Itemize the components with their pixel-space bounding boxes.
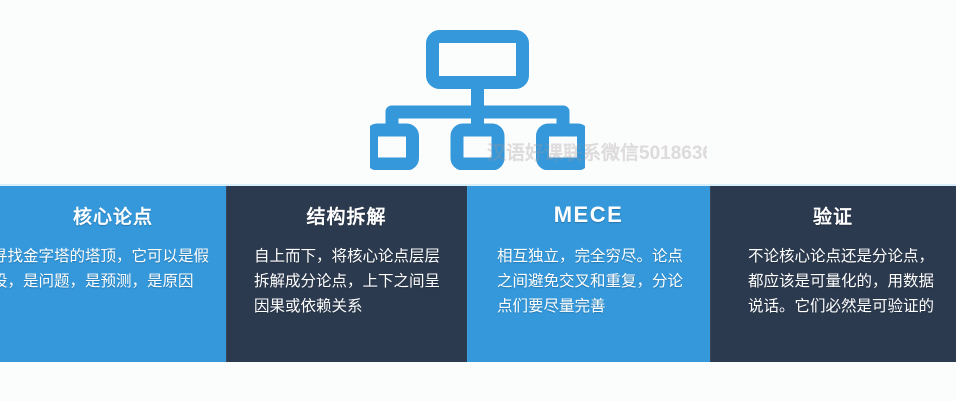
panel-title-core-argument: 核心论点 [0, 202, 226, 229]
panel-structure-decomposition[interactable]: 结构拆解 自上而下，将核心论点层层拆解成分论点，上下之间呈因果或依赖关系 [226, 186, 467, 362]
panel-body-core-argument: 寻找金字塔的塔顶，它可以是假设，是问题，是预测，是原因 [0, 244, 210, 294]
panel-body-structure-decomposition: 自上而下，将核心论点层层拆解成分论点，上下之间呈因果或依赖关系 [254, 244, 451, 319]
panel-title-structure-decomposition: 结构拆解 [226, 202, 467, 229]
panel-title-mece: MECE [467, 202, 710, 228]
panel-verification[interactable]: 验证 不论核心论点还是分论点，都应该是可量化的，用数据说话。它们必然是可验证的 [710, 186, 956, 362]
hero-area: 汉语好课联系微信501863613 [0, 0, 956, 186]
panel-core-argument[interactable]: 核心论点 寻找金字塔的塔顶，它可以是假设，是问题，是预测，是原因 [0, 186, 226, 362]
concept-panel-band: 核心论点 寻找金字塔的塔顶，它可以是假设，是问题，是预测，是原因 结构拆解 自上… [0, 186, 956, 362]
footer-strip [0, 362, 956, 401]
panel-body-mece: 相互独立，完全穷尽。论点之间避免交叉和重复，分论点们要尽量完善 [497, 244, 696, 319]
hierarchy-org-chart-icon [370, 30, 585, 170]
panel-mece[interactable]: MECE 相互独立，完全穷尽。论点之间避免交叉和重复，分论点们要尽量完善 [467, 186, 710, 362]
panel-body-verification: 不论核心论点还是分论点，都应该是可量化的，用数据说话。它们必然是可验证的 [748, 244, 944, 319]
slide-canvas: 汉语好课联系微信501863613 核心论点 寻找金字塔的塔顶，它可以是假设，是… [0, 0, 956, 401]
panel-title-verification: 验证 [710, 202, 956, 229]
